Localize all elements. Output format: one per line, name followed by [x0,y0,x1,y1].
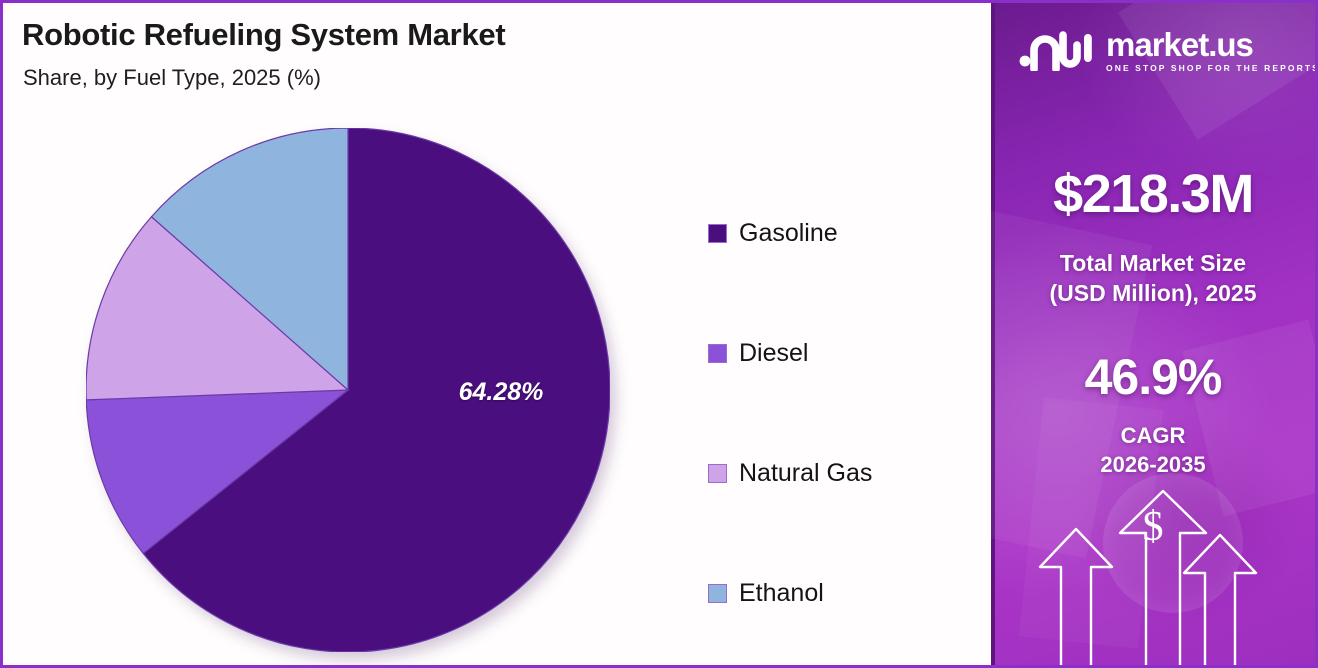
chart-region: Robotic Refueling System Market Share, b… [3,3,988,665]
logo-text-block: market.us ONE STOP SHOP FOR THE REPORTS [1106,29,1315,73]
page-title: Robotic Refueling System Market [22,17,505,53]
pie-chart: 64.28% [86,128,610,652]
legend-item-diesel[interactable]: Diesel [708,293,978,413]
chart-legend: Gasoline Diesel Natural Gas Ethanol [708,173,978,653]
legend-swatch-icon [708,344,727,363]
caption-line-2: (USD Million), 2025 [991,278,1315,308]
legend-swatch-icon [708,584,727,603]
pie-slices [86,128,610,652]
chart-subtitle: Share, by Fuel Type, 2025 (%) [23,65,321,91]
brand-panel: market.us ONE STOP SHOP FOR THE REPORTS … [991,3,1315,665]
cagr-value: 46.9% [991,348,1315,406]
legend-label: Gasoline [739,219,838,248]
caption-line-1: CAGR [991,421,1315,450]
caption-line-2: 2026-2035 [991,450,1315,479]
legend-label: Diesel [739,339,808,368]
total-market-size-value: $218.3M [991,163,1315,225]
legend-label: Ethanol [739,579,824,608]
legend-swatch-icon [708,224,727,243]
legend-swatch-icon [708,464,727,483]
legend-item-ethanol[interactable]: Ethanol [708,533,978,653]
infographic-frame: Robotic Refueling System Market Share, b… [0,0,1318,668]
total-market-size-caption: Total Market Size (USD Million), 2025 [991,248,1315,309]
legend-item-gasoline[interactable]: Gasoline [708,173,978,293]
logo-tagline: ONE STOP SHOP FOR THE REPORTS [1106,63,1315,73]
logo-wordmark: market.us [1106,29,1315,60]
logo-mark-icon [1019,31,1097,71]
market-us-logo[interactable]: market.us ONE STOP SHOP FOR THE REPORTS [1019,29,1315,73]
growth-arrows-icon [991,485,1315,665]
caption-line-1: Total Market Size [991,248,1315,278]
legend-item-natural-gas[interactable]: Natural Gas [708,413,978,533]
legend-label: Natural Gas [739,459,872,488]
cagr-caption: CAGR 2026-2035 [991,421,1315,479]
